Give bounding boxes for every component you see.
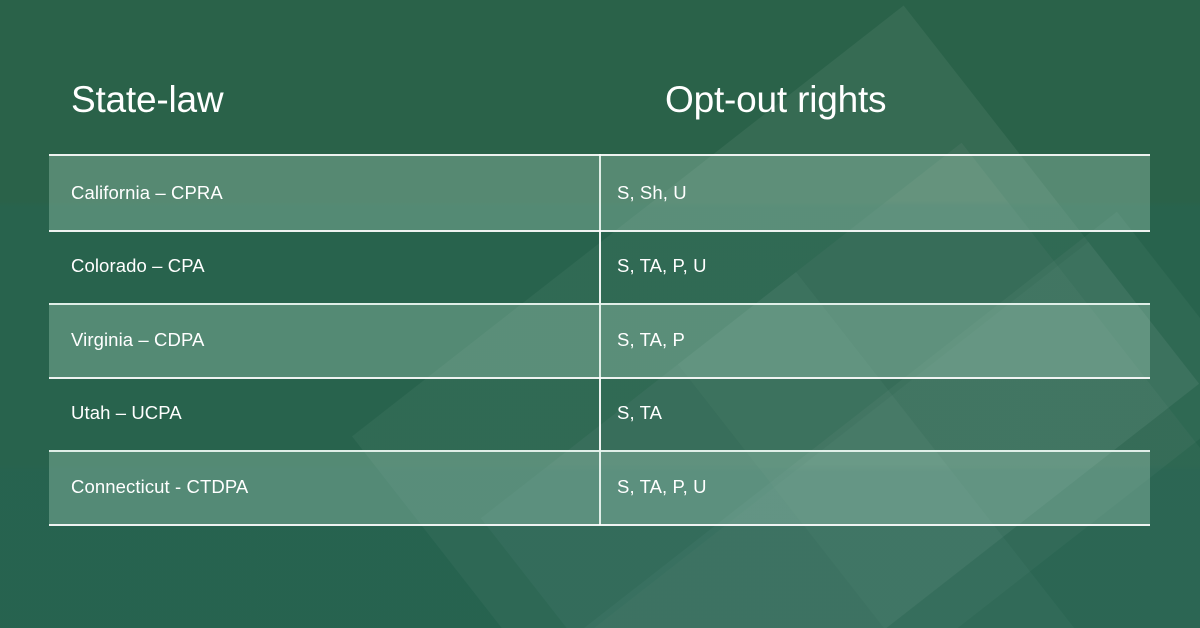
table-row: California – CPRA S, Sh, U <box>49 156 1150 230</box>
cell-state-law: Utah – UCPA <box>49 402 600 424</box>
slide-canvas: State-law Opt-out rights California – CP… <box>0 0 1200 628</box>
cell-opt-out-rights: S, Sh, U <box>600 182 1150 204</box>
cell-state-law: California – CPRA <box>49 182 600 204</box>
table-row: Virginia – CDPA S, TA, P <box>49 303 1150 377</box>
column-header-opt-out-rights: Opt-out rights <box>665 72 886 128</box>
cell-opt-out-rights: S, TA, P, U <box>600 255 1150 277</box>
state-law-opt-out-table: California – CPRA S, Sh, U Colorado – CP… <box>49 156 1150 525</box>
table-row: Utah – UCPA S, TA <box>49 377 1150 451</box>
cell-state-law: Colorado – CPA <box>49 255 600 277</box>
cell-state-law: Connecticut - CTDPA <box>49 476 600 498</box>
cell-state-law: Virginia – CDPA <box>49 329 600 351</box>
cell-opt-out-rights: S, TA <box>600 402 1150 424</box>
table-row: Colorado – CPA S, TA, P, U <box>49 230 1150 304</box>
table-row: Connecticut - CTDPA S, TA, P, U <box>49 450 1150 524</box>
cell-opt-out-rights: S, TA, P <box>600 329 1150 351</box>
column-header-state-law: State-law <box>71 72 223 128</box>
cell-opt-out-rights: S, TA, P, U <box>600 476 1150 498</box>
table-header-row: State-law Opt-out rights <box>0 72 1200 128</box>
